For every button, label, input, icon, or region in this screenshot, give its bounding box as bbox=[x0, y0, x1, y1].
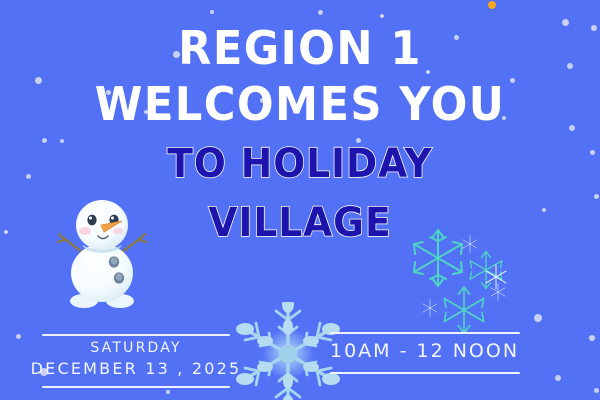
headline-line-village: VILLAGE bbox=[18, 201, 582, 246]
headline-group: REGION 1 WELCOMES YOU TO HOLIDAY VILLAGE bbox=[0, 24, 600, 246]
event-date: DECEMBER 13 , 2025 bbox=[30, 358, 242, 380]
date-block: SATURDAY DECEMBER 13 , 2025 bbox=[30, 326, 242, 388]
snow-dot bbox=[318, 10, 323, 15]
holiday-village-flyer: REGION 1 WELCOMES YOU TO HOLIDAY VILLAGE… bbox=[0, 0, 600, 400]
accent-dot bbox=[488, 1, 496, 9]
time-rule-top bbox=[330, 332, 520, 334]
event-time: 10AM - 12 NOON bbox=[330, 338, 520, 364]
headline-line-region: REGION 1 bbox=[18, 24, 582, 72]
date-rule-bottom bbox=[42, 386, 230, 388]
time-rule-bottom bbox=[330, 372, 520, 374]
event-details: SATURDAY DECEMBER 13 , 2025 10AM - 12 NO… bbox=[0, 326, 600, 400]
event-day: SATURDAY bbox=[30, 338, 242, 358]
time-block: 10AM - 12 NOON bbox=[330, 326, 520, 374]
date-rule-top bbox=[42, 334, 230, 336]
snow-dot bbox=[210, 10, 214, 14]
headline-line-welcomes: WELCOMES YOU bbox=[18, 80, 582, 128]
headline-line-to-holiday: TO HOLIDAY bbox=[18, 142, 582, 187]
snow-dot bbox=[380, 14, 384, 18]
